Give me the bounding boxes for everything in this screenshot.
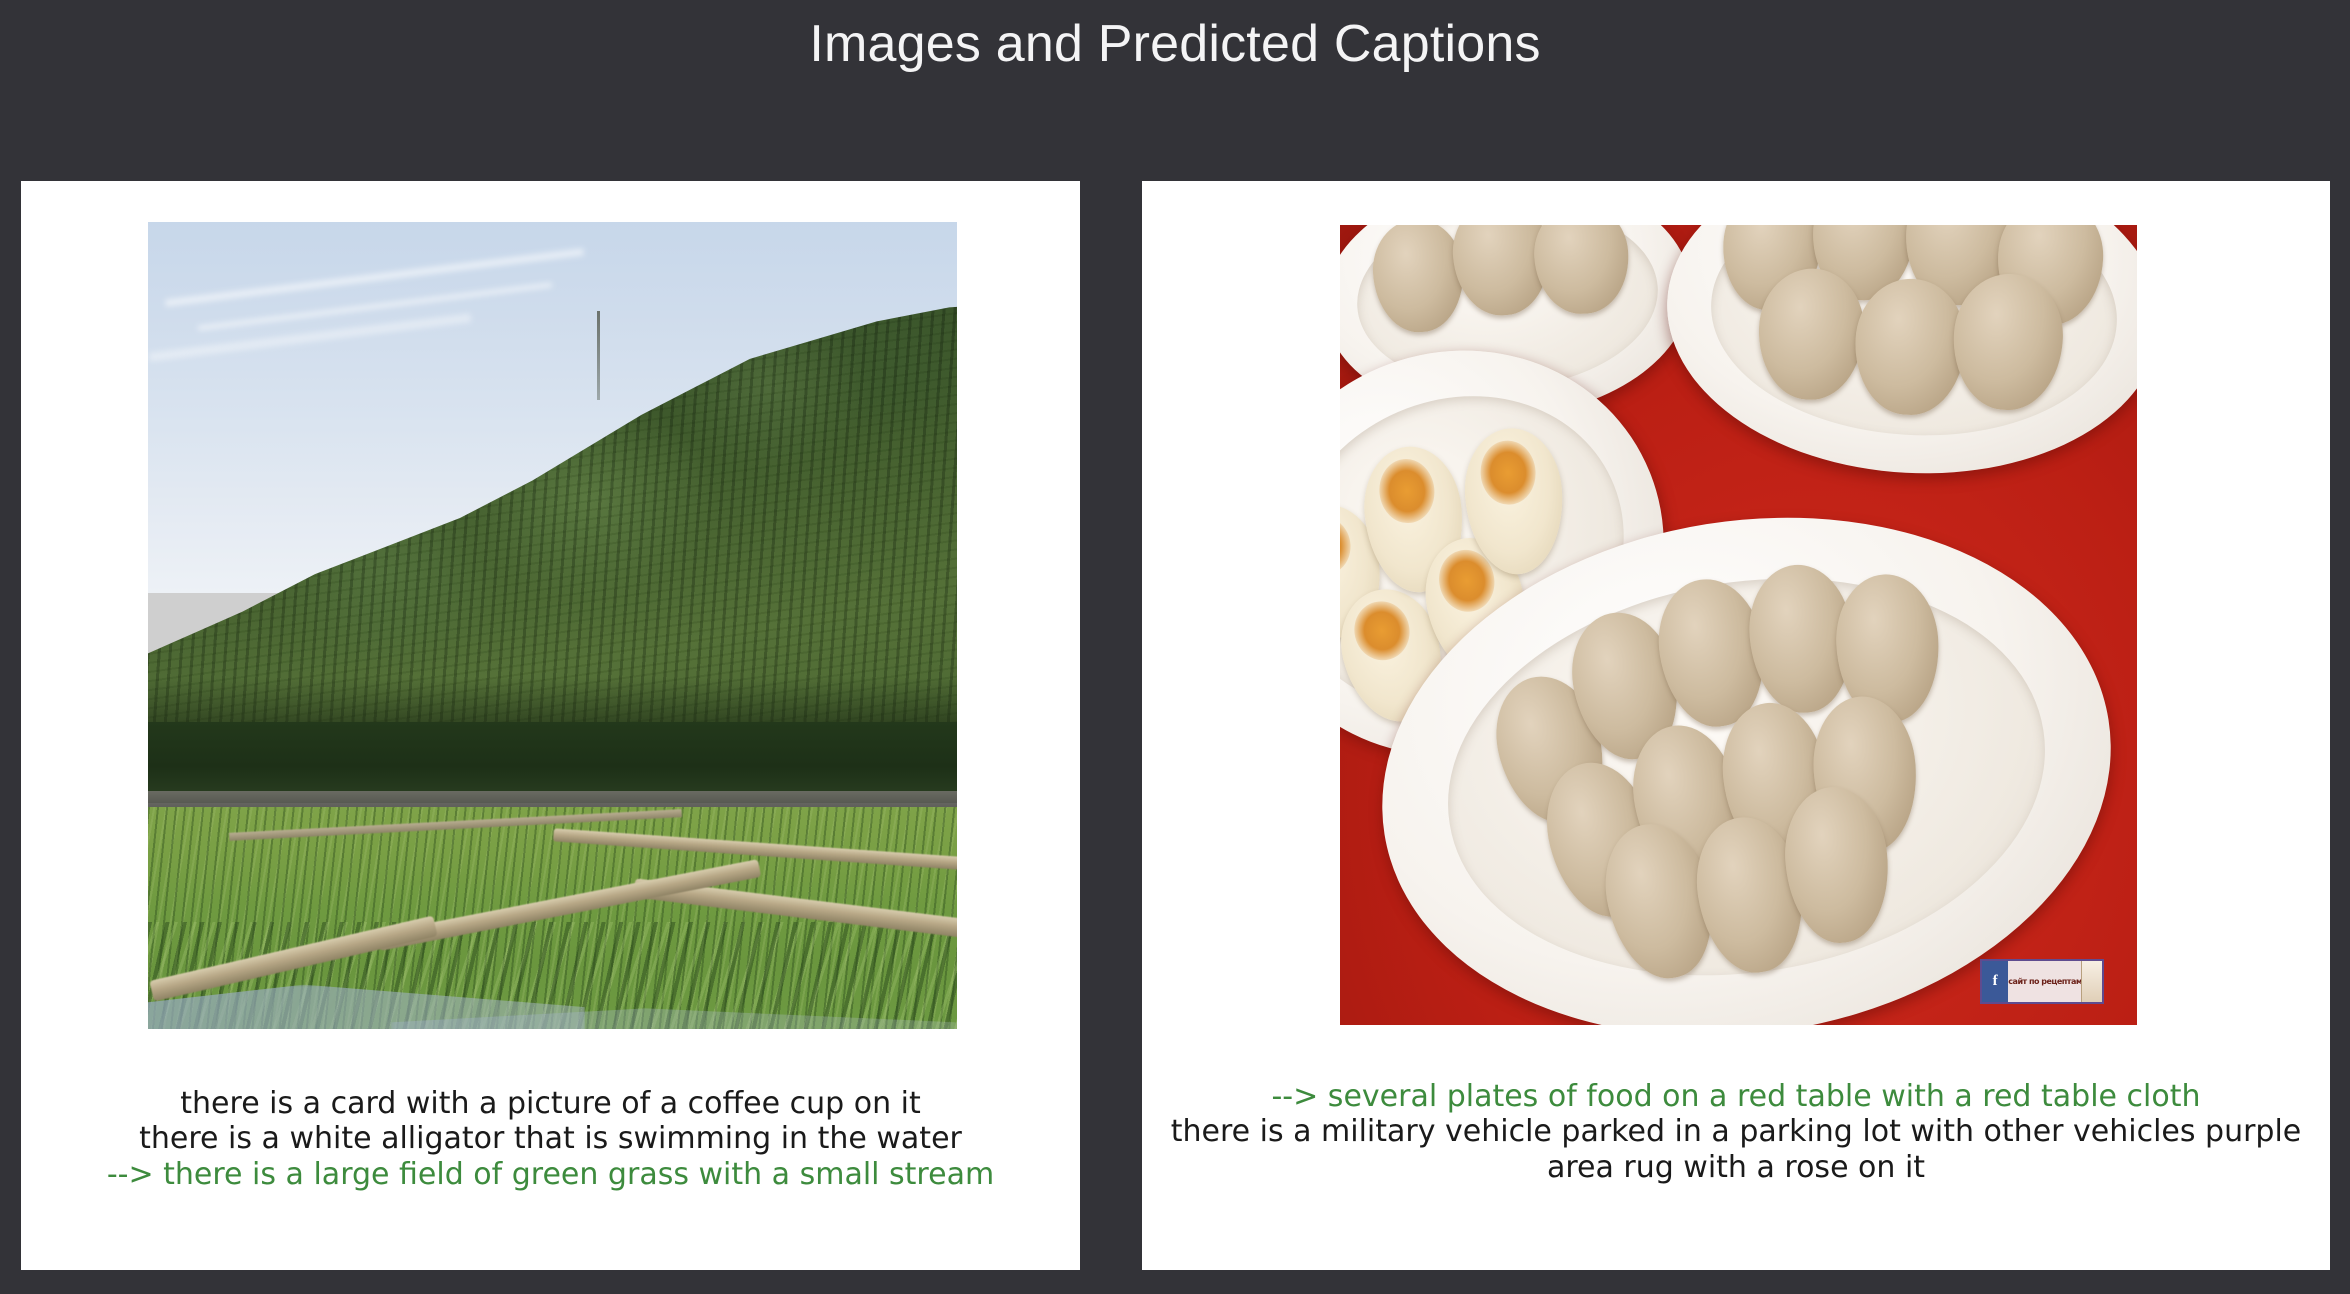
page-title: Images and Predicted Captions (0, 14, 2350, 74)
watermark-badge-icon (2081, 961, 2101, 1002)
caption-card-left: there is a card with a picture of a coff… (21, 181, 1080, 1270)
caption-card-right: f сайт по рецептам --> several plates of… (1142, 181, 2330, 1270)
cloud-streak (165, 248, 583, 306)
caption-line: there is a white alligator that is swimm… (27, 1121, 1074, 1156)
caption-list-left: there is a card with a picture of a coff… (21, 1086, 1080, 1192)
food-item (1531, 225, 1632, 317)
plate-surface (1419, 538, 2074, 1016)
watermark-text: сайт по рецептам (2008, 977, 2081, 986)
plate-surface (1705, 225, 2122, 445)
facebook-watermark: f сайт по рецептам (1980, 959, 2104, 1004)
facebook-icon: f (1982, 961, 2008, 1002)
predicted-caption-line: --> there is a large field of green gras… (27, 1157, 1074, 1192)
caption-line: there is a card with a picture of a coff… (27, 1086, 1074, 1121)
caption-list-right: --> several plates of food on a red tabl… (1142, 1079, 2330, 1185)
page-root: Images and Predicted Captions (0, 0, 2350, 1294)
predicted-caption-line: --> several plates of food on a red tabl… (1148, 1079, 2324, 1114)
image-plates-of-food: f сайт по рецептам (1340, 225, 2137, 1025)
antenna-tower (597, 311, 600, 400)
caption-line: there is a military vehicle parked in a … (1148, 1114, 2324, 1185)
image-rice-paddy-field (148, 222, 957, 1029)
cloud-streak (149, 314, 471, 362)
